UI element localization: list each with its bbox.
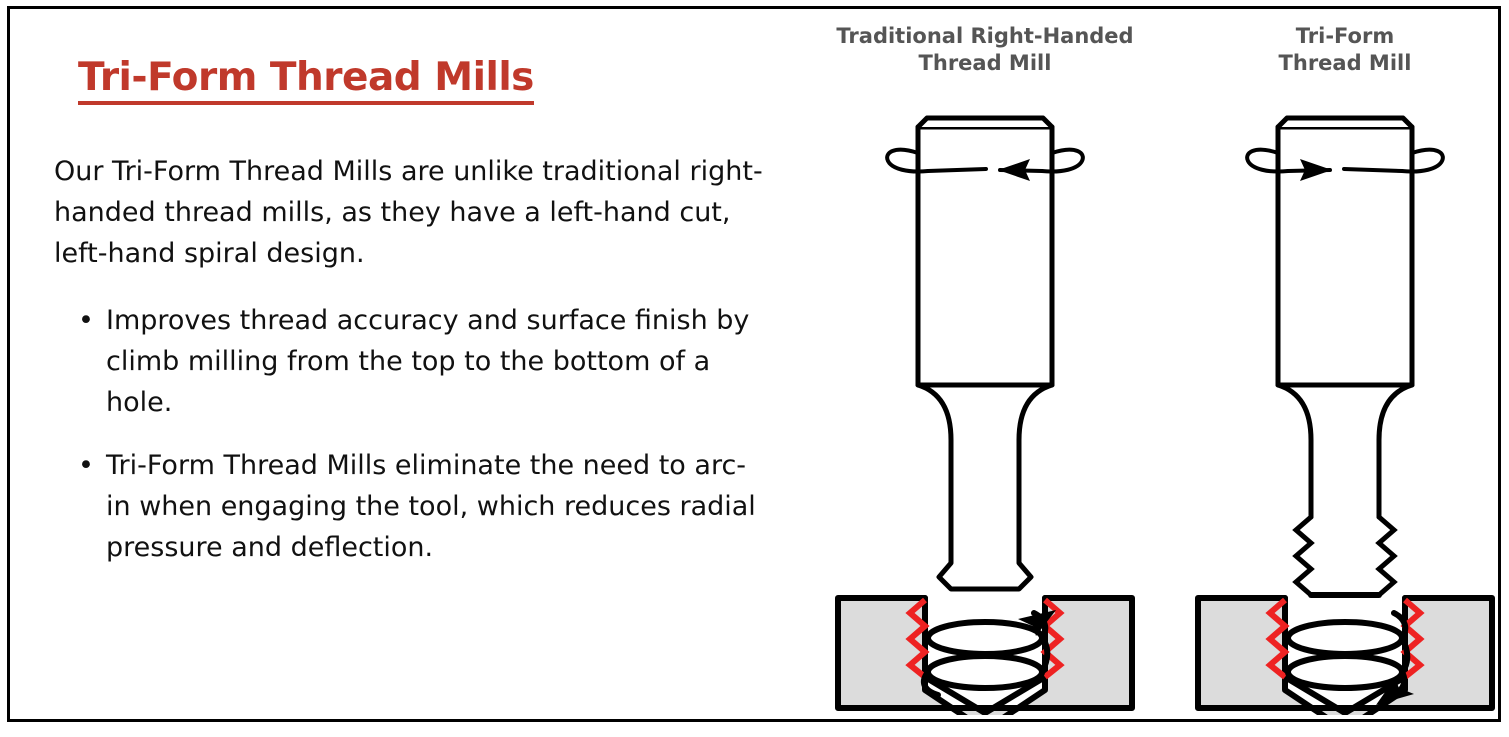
- diagram-area: Traditional Right-Handed Thread Mill: [800, 23, 1506, 723]
- shank-body: [1278, 127, 1412, 385]
- figure-tri-form-thread-mill: Tri-Form Thread Mill: [1180, 23, 1509, 723]
- shank-top-chamfer: [1278, 118, 1412, 127]
- figure-caption-line1: Tri-Form: [1180, 23, 1509, 50]
- cutter-thread-right: [1379, 517, 1394, 595]
- cutter-thread-left: [1296, 517, 1311, 595]
- list-item-text: Tri-Form Thread Mills eliminate the need…: [106, 450, 756, 563]
- shank-body: [918, 127, 1052, 385]
- figure-caption: Tri-Form Thread Mill: [1180, 23, 1509, 77]
- bullet-icon: •: [78, 445, 94, 486]
- intro-paragraph: Our Tri-Form Thread Mills are unlike tra…: [54, 151, 766, 274]
- tri-form-tool-drawing: [1180, 85, 1509, 715]
- slide-frame: Tri-Form Thread Mills Our Tri-Form Threa…: [7, 6, 1501, 722]
- benefits-list: • Improves thread accuracy and surface f…: [54, 300, 794, 568]
- tool-taper-left: [1278, 385, 1311, 517]
- toolpath-helix-upward: [924, 613, 1047, 695]
- cutter-tip-smooth: [939, 563, 1031, 589]
- figure-caption-line1: Traditional Right-Handed: [820, 23, 1150, 50]
- list-item: • Improves thread accuracy and surface f…: [54, 300, 766, 423]
- tool-taper-left: [918, 385, 951, 563]
- figure-traditional-right-handed-thread-mill: Traditional Right-Handed Thread Mill: [820, 23, 1150, 723]
- figure-caption-line2: Thread Mill: [820, 50, 1150, 77]
- page-title: Tri-Form Thread Mills: [78, 57, 534, 105]
- tool-taper-right: [1379, 385, 1412, 517]
- shank-top-chamfer: [918, 118, 1052, 127]
- tool-taper-right: [1019, 385, 1052, 563]
- bullet-icon: •: [78, 300, 94, 341]
- figure-caption-line2: Thread Mill: [1180, 50, 1509, 77]
- list-item: • Tri-Form Thread Mills eliminate the ne…: [54, 445, 766, 568]
- toolpath-helix-downward: [1288, 613, 1407, 697]
- traditional-tool-drawing: [820, 85, 1150, 715]
- text-column: Tri-Form Thread Mills Our Tri-Form Threa…: [54, 57, 794, 590]
- list-item-text: Improves thread accuracy and surface fin…: [106, 305, 749, 418]
- figure-caption: Traditional Right-Handed Thread Mill: [820, 23, 1150, 77]
- slide-page: Tri-Form Thread Mills Our Tri-Form Threa…: [0, 0, 1509, 737]
